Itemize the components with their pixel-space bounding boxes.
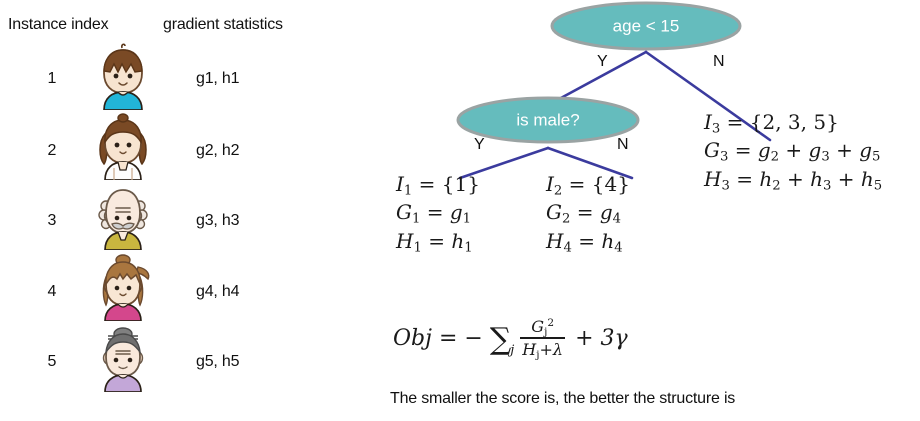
caption-text: The smaller the score is, the better the… xyxy=(390,390,735,408)
tree-node-root-label: age < 15 xyxy=(613,16,680,35)
woman-avatar-icon xyxy=(92,253,154,321)
obj-lhs: Obj xyxy=(393,326,432,351)
row-stats-5: g5, h5 xyxy=(196,353,239,371)
old-woman-avatar-icon xyxy=(92,324,154,392)
leaf-stats-block-1: I1 = {1} G1 = g1 H1 = h1 xyxy=(396,170,480,255)
child-branch-label-yes: Y xyxy=(474,136,485,154)
obj-tail: + 3γ xyxy=(575,326,628,351)
fraction-numerator: Gj2 xyxy=(529,317,556,337)
row-stats-1: g1, h1 xyxy=(196,70,239,88)
root-branch-label-no: N xyxy=(713,53,725,71)
row-stats-4: g4, h4 xyxy=(196,283,239,301)
root-branch-label-yes: Y xyxy=(597,53,608,71)
leaf3-line-I: I3 = {2, 3, 5} xyxy=(704,108,882,136)
row-index-1: 1 xyxy=(32,70,72,88)
fraction-denominator: Hj+λ xyxy=(520,339,565,359)
obj-equals: = xyxy=(432,326,464,351)
row-index-5: 5 xyxy=(32,353,72,371)
tree-node-is-male-label: is male? xyxy=(516,110,579,129)
column-header-gradient-statistics: gradient statistics xyxy=(163,16,283,34)
row-stats-3: g3, h3 xyxy=(196,212,239,230)
obj-minus: − xyxy=(464,326,482,351)
row-index-2: 2 xyxy=(32,142,72,160)
leaf-stats-block-3: I3 = {2, 3, 5} G3 = g2 + g3 + g5 H3 = h2… xyxy=(704,108,882,193)
leaf3-line-H: H3 = h2 + h3 + h5 xyxy=(704,165,882,193)
leaf3-line-G: G3 = g2 + g3 + g5 xyxy=(704,136,882,164)
summation-subscript: j xyxy=(510,343,514,358)
summation-symbol: ∑ xyxy=(490,328,511,352)
slide-canvas: Instance index gradient statistics 1 g1,… xyxy=(0,0,920,421)
row-index-3: 3 xyxy=(32,212,72,230)
objective-function-equation: Obj = − ∑ j Gj2 Hj+λ + 3γ xyxy=(393,318,628,360)
leaf1-line-H: H1 = h1 xyxy=(396,227,480,255)
column-header-instance-index: Instance index xyxy=(8,16,108,34)
leaf2-line-G: G2 = g4 xyxy=(546,198,630,226)
leaf2-line-H: H4 = h4 xyxy=(546,227,630,255)
leaf2-line-I: I2 = {4} xyxy=(546,170,630,198)
child-branch-label-no: N xyxy=(617,136,629,154)
objective-fraction: Gj2 Hj+λ xyxy=(520,317,565,359)
row-stats-2: g2, h2 xyxy=(196,142,239,160)
row-index-4: 4 xyxy=(32,283,72,301)
old-man-avatar-icon xyxy=(92,182,154,250)
leaf-stats-block-2: I2 = {4} G2 = g4 H4 = h4 xyxy=(546,170,630,255)
leaf1-line-I: I1 = {1} xyxy=(396,170,480,198)
girl-avatar-icon xyxy=(92,112,154,180)
boy-avatar-icon xyxy=(92,42,154,110)
leaf1-line-G: G1 = g1 xyxy=(396,198,480,226)
